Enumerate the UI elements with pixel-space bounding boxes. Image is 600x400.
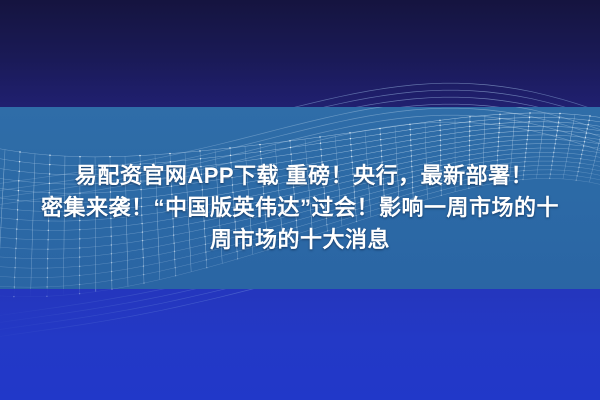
- background-band-bottom: [0, 289, 600, 400]
- promo-banner: 易配资官网APP下载 重磅！央行，最新部署！ 密集来袭！“中国版英伟达”过会！影…: [0, 0, 600, 400]
- background-band-top: [0, 0, 600, 107]
- background-band-middle: [0, 107, 600, 289]
